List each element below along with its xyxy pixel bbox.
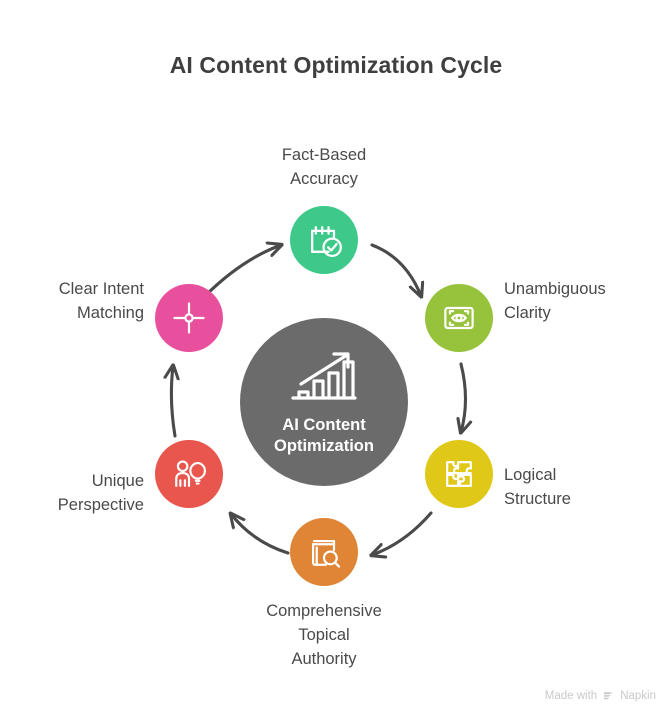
arrow-accuracy-to-clarity: [372, 245, 421, 296]
node-label-unique-perspective: Unique Perspective: [10, 470, 144, 518]
notepad-check-icon: [304, 220, 344, 260]
arrow-authority-to-perspective: [231, 514, 288, 553]
node-fact-based-accuracy[interactable]: [290, 206, 358, 274]
napkin-watermark: Made with Napkin: [545, 689, 656, 702]
growth-chart-icon: [287, 348, 361, 408]
node-logical-structure[interactable]: [425, 440, 493, 508]
node-unambiguous-clarity[interactable]: [425, 284, 493, 352]
node-unique-perspective[interactable]: [155, 440, 223, 508]
hub-ai-content-optimization[interactable]: AI Content Optimization: [240, 318, 408, 486]
node-comprehensive-topical-authority[interactable]: [290, 518, 358, 586]
node-label-unambiguous-clarity: Unambiguous Clarity: [504, 278, 664, 326]
node-label-fact-based-accuracy: Fact-Based Accuracy: [234, 144, 414, 192]
eye-focus-frame-icon: [439, 298, 479, 338]
puzzle-pieces-icon: [439, 454, 479, 494]
watermark-brand-text: Napkin: [620, 690, 656, 702]
book-search-icon: [304, 532, 344, 572]
node-clear-intent-matching[interactable]: [155, 284, 223, 352]
napkin-logo-icon: [602, 689, 615, 702]
arrow-structure-to-authority: [372, 513, 431, 555]
crosshair-target-icon: [169, 298, 209, 338]
node-label-logical-structure: Logical Structure: [504, 464, 664, 512]
arrow-perspective-to-intent: [171, 366, 175, 436]
node-label-comprehensive-topical-authority: Comprehensive Topical Authority: [234, 600, 414, 672]
arrow-clarity-to-structure: [461, 364, 466, 432]
watermark-made-with-text: Made with: [545, 690, 597, 702]
hub-label: AI Content Optimization: [240, 415, 408, 457]
person-lightbulb-icon: [169, 454, 209, 494]
node-label-clear-intent-matching: Clear Intent Matching: [10, 278, 144, 326]
arrow-intent-to-accuracy: [207, 245, 281, 294]
